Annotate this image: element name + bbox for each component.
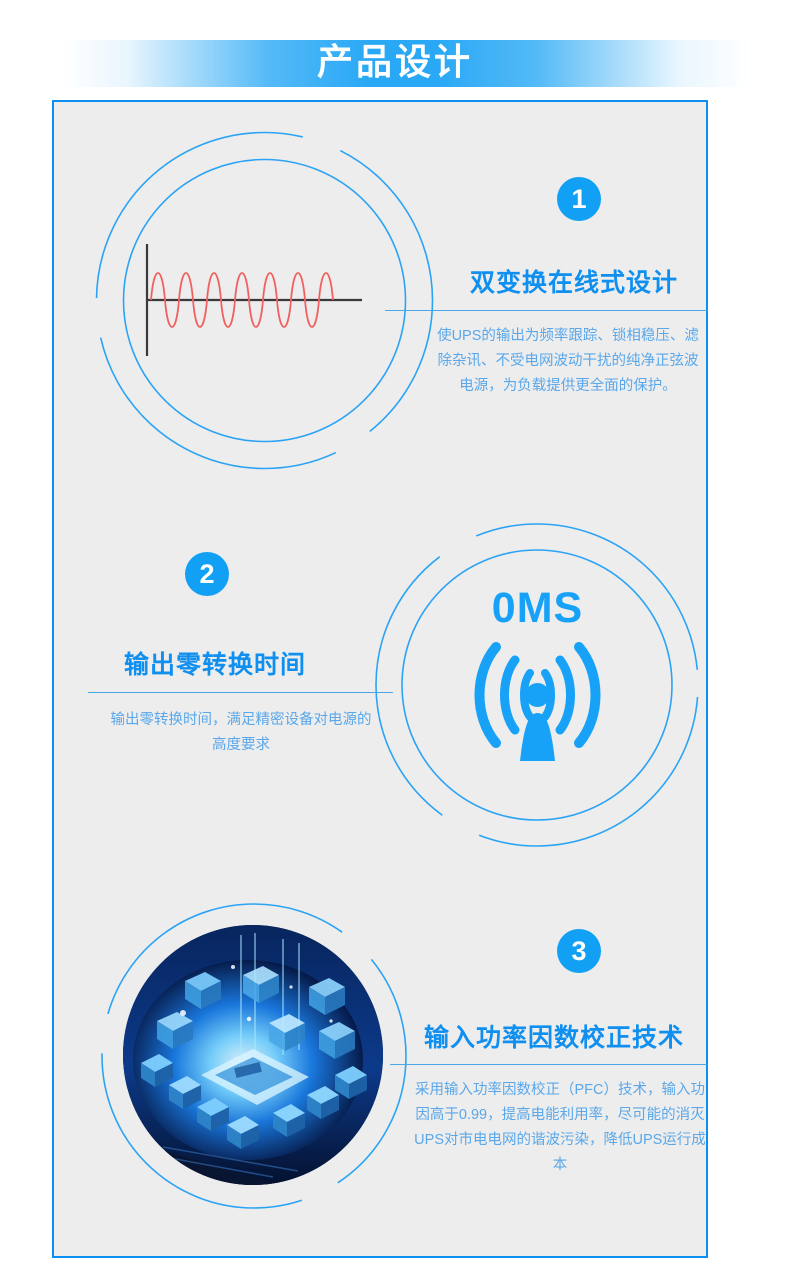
section-1-badge: 1 — [557, 177, 601, 221]
circuit-board-photo — [123, 925, 383, 1185]
page-title: 产品设计 — [0, 36, 790, 88]
section-3-title: 输入功率因数校正技术 — [424, 1018, 684, 1054]
section-3-badge: 3 — [557, 929, 601, 973]
section-2-badge: 2 — [185, 552, 229, 596]
section-2-title: 输出零转换时间 — [124, 645, 306, 681]
section-3-divider — [390, 1064, 707, 1065]
sine-wave-chart — [140, 240, 370, 360]
section-3-body: 采用输入功率因数校正（PFC）技术，输入功因高于0.99，提高电能利用率，尽可能… — [414, 1078, 706, 1178]
section-1-title: 双变换在线式设计 — [470, 263, 678, 299]
section-2-divider — [88, 692, 393, 693]
section-2-body: 输出零转换时间，满足精密设备对电源的高度要求 — [110, 708, 372, 758]
zero-ms-antenna-icon: 0MS — [460, 585, 615, 785]
section-1-divider — [385, 310, 707, 311]
section-1-body: 使UPS的输出为频率跟踪、锁相稳压、滤除杂讯、不受电网波动干扰的纯净正弦波电源，… — [432, 324, 704, 399]
